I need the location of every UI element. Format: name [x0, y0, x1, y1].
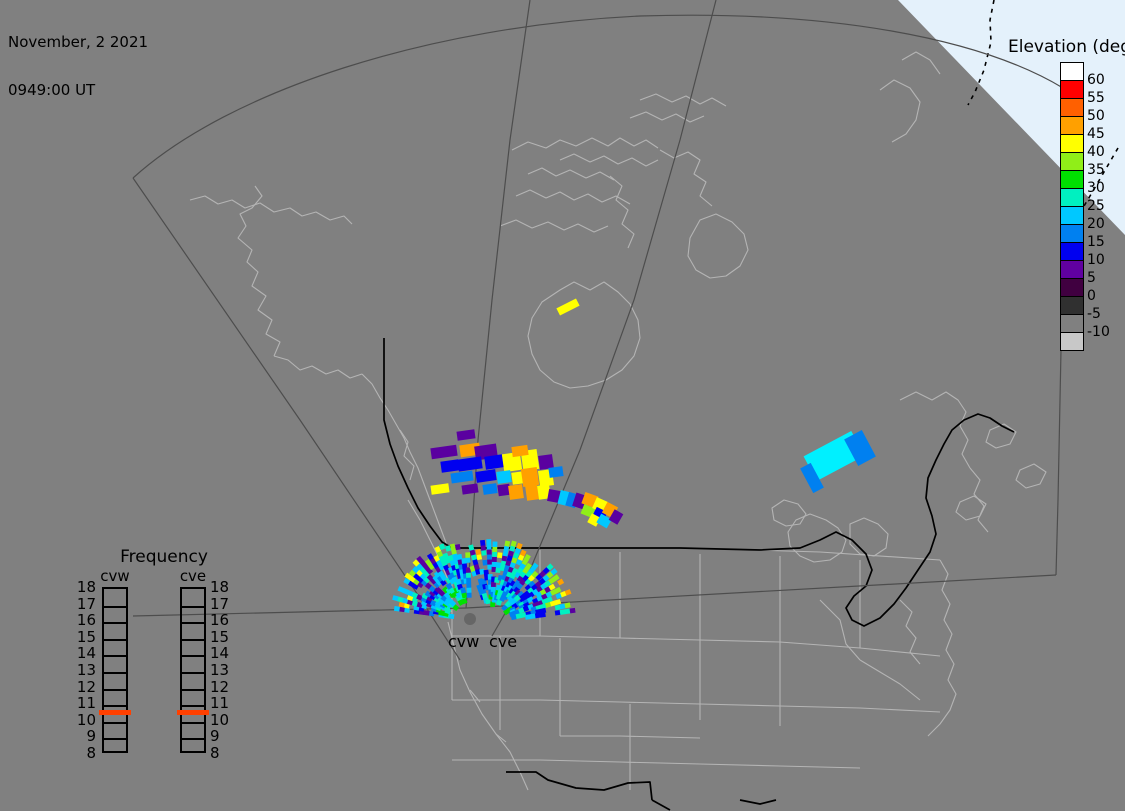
frequency-scale-divider	[104, 738, 126, 740]
frequency-tick-label: 16	[70, 613, 96, 628]
radar-cell	[508, 484, 524, 500]
radar-cell	[570, 608, 576, 614]
radar-cell	[484, 454, 504, 469]
radar-cell	[466, 587, 471, 593]
frequency-tick-label: 17	[70, 597, 96, 612]
frequency-tick-label: 11	[210, 696, 236, 711]
radar-cell	[487, 554, 492, 560]
frequency-column-cve: cve18171615141312111098	[158, 568, 228, 753]
elevation-swatch	[1061, 225, 1083, 243]
elevation-tick-label: 25	[1087, 197, 1110, 215]
frequency-tick-label: 10	[70, 713, 96, 728]
radar-cell	[482, 560, 487, 566]
elevation-tick-label: -10	[1087, 323, 1110, 341]
elevation-tick-label: 20	[1087, 215, 1110, 233]
radar-cell	[457, 456, 482, 471]
elevation-tick-label: 5	[1087, 269, 1110, 287]
frequency-tick-label: 14	[70, 646, 96, 661]
frequency-marker	[177, 710, 209, 715]
frequency-scale-divider	[104, 689, 126, 691]
frequency-scale-box	[180, 587, 206, 753]
radar-site-label-cvw: cvw	[448, 633, 479, 650]
frequency-scale-divider	[182, 738, 204, 740]
frequency-scale-divider	[104, 655, 126, 657]
frequency-scale-divider	[104, 722, 126, 724]
frequency-legend-columns: cvw18171615141312111098cve18171615141312…	[84, 568, 244, 768]
radar-cell	[492, 556, 497, 562]
radar-cell	[496, 470, 512, 484]
elevation-tick-label: 30	[1087, 179, 1110, 197]
elevation-swatch	[1061, 153, 1083, 171]
elevation-colorbar-title: Elevation (deg)	[1008, 38, 1125, 56]
radar-cell	[481, 550, 486, 556]
elevation-swatch	[1061, 297, 1083, 315]
frequency-scale-divider	[182, 655, 204, 657]
elevation-tick-label: 45	[1087, 125, 1110, 143]
frequency-scale-divider	[182, 606, 204, 608]
frequency-legend: Frequency cvw18171615141312111098cve1817…	[84, 548, 244, 768]
frequency-tick-label: 9	[210, 729, 236, 744]
elevation-tick-label: 50	[1087, 107, 1110, 125]
radar-cell	[394, 606, 400, 612]
radar-cell	[491, 586, 496, 592]
elevation-swatch	[1061, 99, 1083, 117]
elevation-tick-label: 35	[1087, 161, 1110, 179]
frequency-scale-divider	[104, 639, 126, 641]
elevation-tick-label: 40	[1087, 143, 1110, 161]
radar-cell	[492, 551, 497, 557]
elevation-swatch	[1061, 135, 1083, 153]
frequency-scale-divider	[104, 705, 126, 707]
frequency-scale-divider	[104, 606, 126, 608]
elevation-tick-label: -5	[1087, 305, 1110, 323]
frequency-tick-label: 12	[70, 680, 96, 695]
elevation-swatch	[1061, 243, 1083, 261]
frequency-scale-divider	[104, 622, 126, 624]
radar-cell	[457, 554, 463, 560]
radar-cell	[467, 592, 472, 598]
frequency-scale-divider	[182, 622, 204, 624]
radar-cell	[548, 466, 563, 478]
radar-cell	[556, 298, 579, 315]
radar-cell	[430, 483, 449, 494]
radar-cell	[430, 445, 457, 460]
radar-cell	[487, 559, 492, 565]
elevation-tick-label: 10	[1087, 251, 1110, 269]
frequency-marker	[99, 710, 131, 715]
frequency-tick-label: 18	[210, 580, 236, 595]
radar-cell	[492, 561, 497, 567]
timestamp-date: November, 2 2021	[8, 34, 148, 50]
frequency-tick-label: 10	[210, 713, 236, 728]
radar-cell	[465, 552, 470, 558]
frequency-tick-label: 9	[70, 729, 96, 744]
frequency-tick-label: 8	[210, 746, 236, 761]
frequency-scale-divider	[104, 672, 126, 674]
radar-cell	[487, 549, 492, 555]
frequency-tick-label: 12	[210, 680, 236, 695]
elevation-swatch	[1061, 261, 1083, 279]
frequency-scale-divider	[182, 639, 204, 641]
elevation-swatch	[1061, 207, 1083, 225]
radar-cell	[487, 564, 492, 570]
timestamp-time: 0949:00 UT	[8, 82, 148, 98]
radar-cell	[456, 429, 475, 440]
frequency-scale-divider	[182, 705, 204, 707]
radar-cell	[475, 469, 496, 483]
frequency-tick-label: 14	[210, 646, 236, 661]
frequency-tick-label: 8	[70, 746, 96, 761]
elevation-swatch	[1061, 63, 1083, 81]
radar-cell	[455, 544, 461, 550]
radar-site-label-cve: cve	[489, 633, 517, 650]
frequency-tick-label: 16	[210, 613, 236, 628]
radar-cell	[497, 552, 502, 558]
elevation-tick-label: 15	[1087, 233, 1110, 251]
frequency-tick-label: 15	[70, 630, 96, 645]
elevation-swatch	[1061, 333, 1083, 351]
radar-cell	[461, 483, 478, 494]
frequency-scale-divider	[182, 672, 204, 674]
elevation-swatch	[1061, 315, 1083, 333]
elevation-tick-label: 0	[1087, 287, 1110, 305]
radar-cell	[440, 459, 459, 472]
radar-cell	[486, 539, 491, 545]
radar-cell	[450, 471, 473, 484]
elevation-tick-label: 60	[1087, 71, 1110, 89]
elevation-swatch	[1061, 189, 1083, 207]
radar-cell	[487, 544, 492, 550]
elevation-swatch	[1061, 81, 1083, 99]
radar-cell	[492, 546, 497, 552]
radar-cell	[538, 454, 554, 470]
frequency-tick-label: 13	[210, 663, 236, 678]
elevation-swatch	[1061, 279, 1083, 297]
frequency-tick-label: 15	[210, 630, 236, 645]
radar-cell	[557, 579, 564, 586]
frequency-scale-divider	[182, 689, 204, 691]
frequency-column-scale: 18171615141312111098	[80, 587, 150, 753]
radar-cell	[480, 540, 485, 546]
radar-cell	[481, 545, 486, 551]
frequency-scale-box	[102, 587, 128, 753]
frequency-tick-label: 18	[70, 580, 96, 595]
frequency-tick-label: 11	[70, 696, 96, 711]
radar-cell	[466, 572, 471, 578]
radar-cell	[564, 602, 570, 608]
elevation-colorbar-swatches	[1060, 62, 1084, 351]
radar-map-view: November, 2 2021 0949:00 UT Elevation (d…	[0, 0, 1125, 811]
frequency-tick-label: 17	[210, 597, 236, 612]
radar-cell	[492, 541, 497, 547]
frequency-column-scale: 18171615141312111098	[158, 587, 228, 753]
frequency-scale-divider	[182, 722, 204, 724]
radar-cell	[466, 582, 471, 588]
elevation-tick-label: 55	[1087, 89, 1110, 107]
elevation-swatch	[1061, 117, 1083, 135]
radar-cell	[482, 483, 497, 495]
radar-cell	[475, 549, 481, 555]
frequency-legend-title: Frequency	[84, 548, 244, 567]
elevation-colorbar-labels: 605550454035302520151050-5-10	[1087, 62, 1110, 332]
radar-cell	[504, 541, 510, 547]
frequency-tick-label: 13	[70, 663, 96, 678]
timestamp: November, 2 2021 0949:00 UT	[8, 2, 148, 130]
radar-cell	[466, 577, 471, 583]
frequency-column-cvw: cvw18171615141312111098	[80, 568, 150, 753]
radar-cell	[465, 557, 470, 563]
elevation-colorbar: Elevation (deg) 605550454035302520151050…	[1008, 38, 1125, 351]
elevation-swatch	[1061, 171, 1083, 189]
radar-cell	[540, 612, 546, 618]
radar-cell	[525, 483, 539, 501]
